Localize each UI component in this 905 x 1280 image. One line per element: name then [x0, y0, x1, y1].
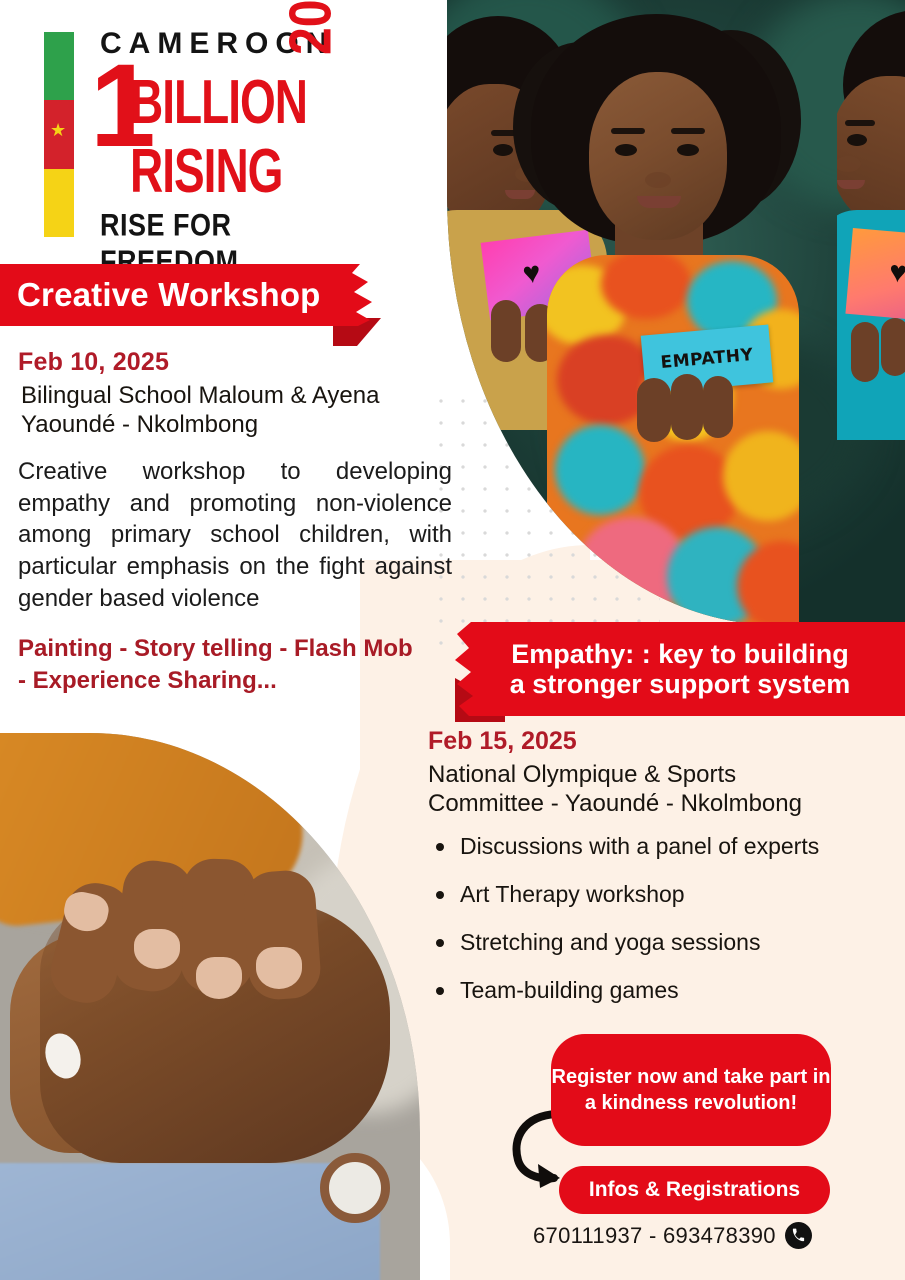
banner-creative-workshop: Creative Workshop: [0, 264, 385, 326]
child-center-face: [589, 72, 727, 240]
event1-date: Feb 10, 2025: [18, 348, 458, 377]
event2-venue-line1: National Olympique & Sports: [428, 760, 896, 789]
list-item: Team-building games: [428, 977, 898, 1004]
wristwatch: [320, 1153, 390, 1223]
list-item: Art Therapy workshop: [428, 881, 898, 908]
cameroon-flag-bar: ★: [44, 32, 74, 237]
heart-card-orange: ♥: [845, 228, 905, 322]
event1-details: Feb 10, 2025 Bilingual School Maloum & A…: [18, 348, 458, 696]
child-center-shirt: [547, 255, 799, 625]
list-item: Discussions with a panel of experts: [428, 833, 898, 860]
event2-details: Feb 15, 2025 National Olympique & Sports…: [428, 727, 898, 1025]
banner-empathy: Empathy: : key to building a stronger su…: [455, 622, 905, 716]
logo-word-billion: BILLION: [130, 65, 307, 138]
event2-venue: National Olympique & Sports Committee - …: [428, 760, 896, 819]
event2-activity-list: Discussions with a panel of experts Art …: [428, 833, 898, 1005]
event1-venue-line2: Yaoundé - Nkolmbong: [21, 411, 458, 440]
infos-registrations-button[interactable]: Infos & Registrations: [559, 1166, 830, 1214]
event1-venue: Bilingual School Maloum & Ayena Yaoundé …: [21, 382, 458, 440]
heart-icon: ♥: [888, 257, 905, 288]
photo-clasped-hands: [0, 733, 420, 1280]
event2-date: Feb 15, 2025: [428, 727, 898, 756]
empathy-card-text: EMPATHY: [660, 345, 754, 373]
banner-empathy-line1: Empathy: : key to building: [511, 639, 849, 669]
banner-empathy-line2: a stronger support system: [510, 669, 851, 699]
phone-numbers-text: 670111937 - 693478390: [533, 1223, 776, 1249]
logo-word-rising: RISING: [130, 134, 282, 207]
poster: ♥: [0, 0, 905, 1280]
cta-message-card[interactable]: Register now and take part in a kindness…: [551, 1034, 831, 1146]
logo-year: 2025: [276, 0, 344, 55]
event1-description: Creative workshop to developing empathy …: [18, 456, 452, 616]
infos-registrations-label: Infos & Registrations: [589, 1178, 800, 1202]
event1-venue-line1: Bilingual School Maloum & Ayena: [21, 382, 458, 411]
cta-message-text: Register now and take part in a kindness…: [551, 1064, 831, 1116]
list-item: Stretching and yoga sessions: [428, 929, 898, 956]
event1-activities: Painting - Story telling - Flash Mob - E…: [18, 633, 418, 696]
event2-venue-line2: Committee - Yaoundé - Nkolmbong: [428, 789, 896, 818]
contact-phone-numbers[interactable]: 670111937 - 693478390: [533, 1222, 853, 1249]
banner-creative-workshop-text: Creative Workshop: [17, 276, 321, 314]
heart-icon: ♥: [521, 258, 542, 290]
phone-icon: [785, 1222, 812, 1249]
star-icon: ★: [50, 121, 66, 139]
logo-one-billion-rising: ★ CAMEROON 1 BILLION RISING 2025 RISE FO…: [40, 27, 340, 247]
